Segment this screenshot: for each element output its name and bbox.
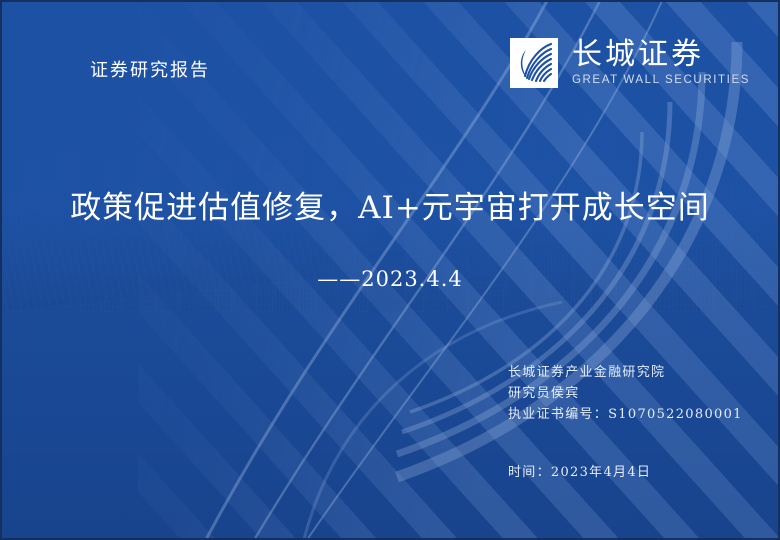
great-wall-globe-arcs-icon (510, 38, 558, 88)
brand-logo-lockup: 长城证券 GREAT WALL SECURITIES (510, 38, 750, 88)
date-stamp: 时间：2023年4月4日 (508, 461, 651, 480)
institute-line: 长城证券产业金融研究院 (508, 362, 743, 383)
cover-content: 证券研究报告 长城证券 (2, 2, 778, 538)
report-date-subtitle: ——2023.4.4 (2, 267, 778, 291)
brand-name-en: GREAT WALL SECURITIES (572, 74, 750, 86)
analyst-line: 研究员侯宾 (508, 383, 743, 404)
report-cover-slide: 证券研究报告 长城证券 (0, 0, 780, 540)
license-line: 执业证书编号：S1070522080001 (508, 404, 743, 425)
report-type-kicker: 证券研究报告 (90, 56, 210, 82)
brand-name-cn: 长城证券 (572, 39, 750, 71)
brand-wordmark: 长城证券 GREAT WALL SECURITIES (572, 38, 750, 86)
page-title: 政策促进估值修复，AI+元宇宙打开成长空间 (2, 182, 778, 227)
author-block: 长城证券产业金融研究院 研究员侯宾 执业证书编号：S1070522080001 (508, 362, 743, 425)
